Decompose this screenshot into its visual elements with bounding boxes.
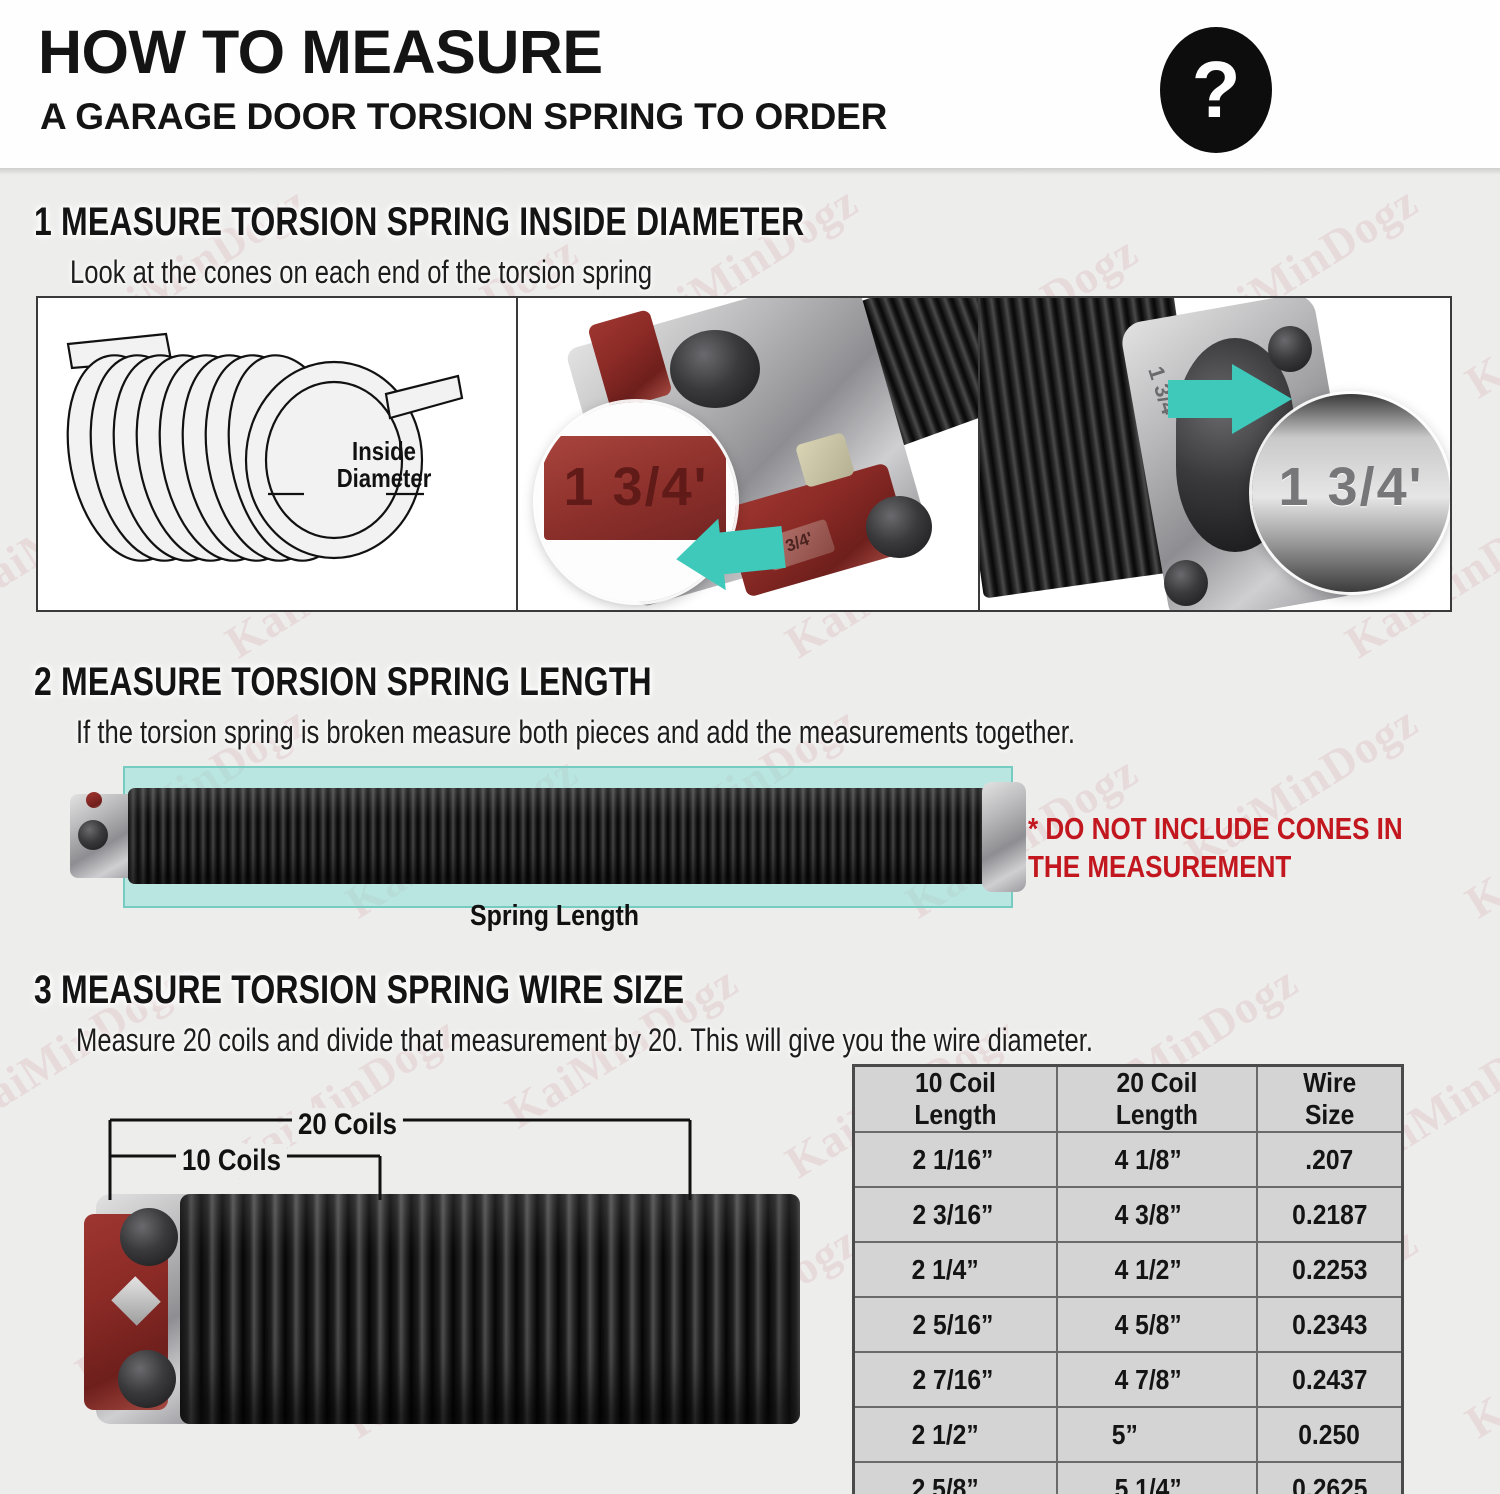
section-2-subheading: If the torsion spring is broken measure … (76, 714, 1075, 751)
torsion-spring-line-drawing (38, 298, 516, 610)
warning-line-1: * DO NOT INCLUDE CONES IN (1028, 810, 1406, 848)
section-1-number: 1 (34, 200, 52, 244)
spring-diagram-panel: Inside Diameter (38, 298, 516, 610)
right-cone (982, 782, 1026, 892)
cone-bore-upper (670, 330, 760, 408)
table-cell: 2 5/8” (854, 1462, 1057, 1494)
table-row: 2 1/4”4 1/2”0.2253 (854, 1242, 1403, 1297)
column-header-wire-size: Wire Size (1257, 1066, 1403, 1133)
cone-bore-lower (866, 496, 932, 558)
section-2-heading: 2 MEASURE TORSION SPRING LENGTH (34, 660, 652, 705)
warning-line-2: THE MEASUREMENT (1028, 848, 1406, 886)
table-cell: 2 1/4” (854, 1242, 1057, 1297)
magnified-size-value: 1 3/4' (536, 456, 736, 518)
table-cell: 2 5/16” (854, 1297, 1057, 1352)
table-cell: 0.2343 (1257, 1297, 1403, 1352)
header-band: HOW TO MEASURE A GARAGE DOOR TORSION SPR… (0, 0, 1500, 168)
section-1-title: MEASURE TORSION SPRING INSIDE DIAMETER (61, 200, 804, 244)
table-row: 2 5/8”5 1/4”0.2625 (854, 1462, 1403, 1494)
cone-bore-bottom (118, 1350, 176, 1408)
header-divider (0, 168, 1500, 175)
column-header-20-coil: 20 Coil Length (1057, 1066, 1257, 1133)
silver-cone-photo-panel: 1 3/4' 1 3/4' (978, 298, 1450, 610)
magnified-size-value: 1 3/4' (1252, 456, 1450, 518)
torsion-spring-coils (180, 1194, 800, 1424)
wire-size-spring-photo (40, 1180, 800, 1460)
section-2-title: MEASURE TORSION SPRING LENGTH (61, 660, 652, 704)
teal-arrow-icon (666, 516, 786, 594)
cone-bore-top (120, 1208, 178, 1266)
table-cell: 4 5/8” (1057, 1297, 1257, 1352)
section-1-panels: Inside Diameter 1 3/4' (36, 296, 1452, 612)
table-cell: 0.250 (1257, 1407, 1403, 1462)
table-cell: 4 1/2” (1057, 1242, 1257, 1297)
section-1-heading: 1 MEASURE TORSION SPRING INSIDE DIAMETER (34, 200, 804, 245)
table-row: 2 5/16”4 5/8”0.2343 (854, 1297, 1403, 1352)
column-header-10-coil: 10 Coil Length (854, 1066, 1057, 1133)
coil-count-brackets: 20 Coils 10 Coils (80, 1100, 780, 1210)
table-cell: 4 7/8” (1057, 1352, 1257, 1407)
section-3-number: 3 (34, 968, 52, 1012)
watermark-text: KaiMinDogz (1456, 1264, 1500, 1448)
bracket-label-10-coils: 10 Coils (176, 1144, 287, 1178)
cones-warning-text: * DO NOT INCLUDE CONES IN THE MEASUREMEN… (1028, 810, 1406, 886)
table-row: 2 7/16”4 7/8”0.2437 (854, 1352, 1403, 1407)
table-cell: 2 1/2” (854, 1407, 1057, 1462)
table-cell: 0.2437 (1257, 1352, 1403, 1407)
table-cell: 0.2253 (1257, 1242, 1403, 1297)
table-cell: 2 7/16” (854, 1352, 1057, 1407)
inside-diameter-line1: Inside (352, 436, 416, 466)
torsion-spring-body (128, 788, 994, 884)
table-cell: 2 1/16” (854, 1132, 1057, 1187)
watermark-text: KaiMinDogz (1456, 224, 1500, 408)
table-cell: 2 3/16” (854, 1187, 1057, 1242)
section-3-heading: 3 MEASURE TORSION SPRING WIRE SIZE (34, 968, 684, 1013)
section-3-title: MEASURE TORSION SPRING WIRE SIZE (61, 968, 684, 1012)
spring-length-label: Spring Length (470, 900, 639, 933)
infographic-page: KaiMinDogzKaiMinDogzKaiMinDogzKaiMinDogz… (0, 0, 1500, 1494)
table-header-row: 10 Coil Length 20 Coil Length Wire Size (854, 1066, 1403, 1133)
table-cell: 0.2187 (1257, 1187, 1403, 1242)
section-2-number: 2 (34, 660, 52, 704)
page-subtitle: A GARAGE DOOR TORSION SPRING TO ORDER (40, 98, 887, 135)
table-row: 2 1/2”5”0.250 (854, 1407, 1403, 1462)
table-cell: 5” (1057, 1407, 1257, 1462)
inside-diameter-line2: Diameter (337, 463, 432, 493)
left-cone-red-mark (86, 792, 102, 808)
table-cell: 0.2625 (1257, 1462, 1403, 1494)
section-3-subheading: Measure 20 coils and divide that measure… (76, 1022, 1093, 1059)
left-cone-bore (78, 820, 108, 850)
teal-arrow-icon (1166, 360, 1296, 438)
inside-diameter-label: Inside Diameter (331, 438, 436, 491)
section-1-subheading: Look at the cones on each end of the tor… (70, 254, 652, 291)
wire-size-table: 10 Coil Length 20 Coil Length Wire Size … (852, 1064, 1404, 1494)
table-row: 2 3/16”4 3/8”0.2187 (854, 1187, 1403, 1242)
red-cone-photo-panel: 1 3/4' 1 3/4' (516, 298, 978, 610)
table-row: 2 1/16”4 1/8”.207 (854, 1132, 1403, 1187)
table-cell: 4 1/8” (1057, 1132, 1257, 1187)
table-cell: .207 (1257, 1132, 1403, 1187)
question-mark-icon: ? (1160, 27, 1272, 153)
table-cell: 5 1/4” (1057, 1462, 1257, 1494)
flange-bolt-hole-bottom (1164, 560, 1208, 606)
page-title: HOW TO MEASURE (38, 22, 603, 83)
table-cell: 4 3/8” (1057, 1187, 1257, 1242)
bracket-label-20-coils: 20 Coils (292, 1108, 403, 1142)
